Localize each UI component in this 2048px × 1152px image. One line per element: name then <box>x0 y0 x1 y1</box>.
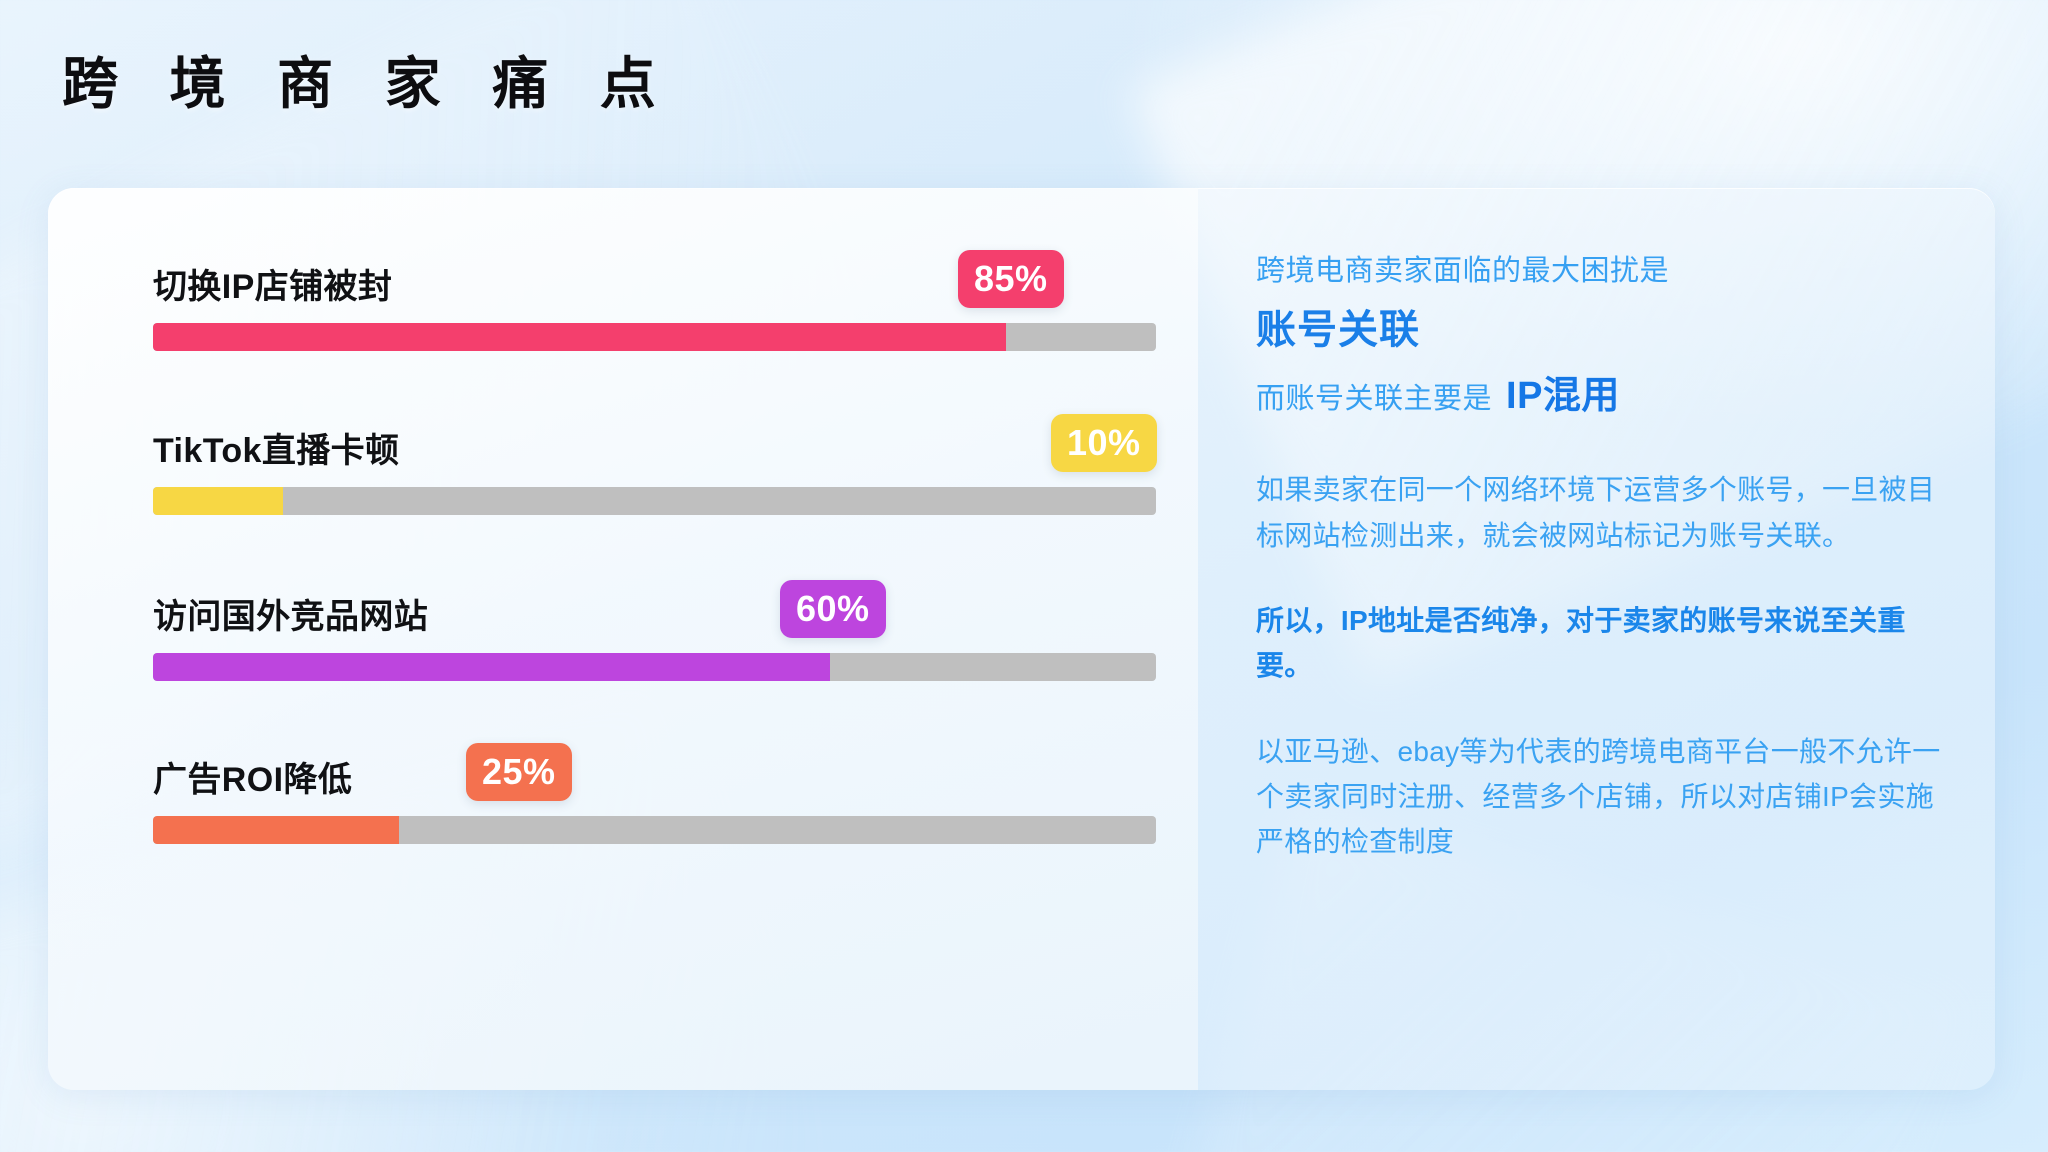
bar-header: 访问国外竞品网站 60% <box>153 566 1156 640</box>
bar-label: TikTok直播卡顿 <box>153 434 399 474</box>
bar-value-badge: 85% <box>958 250 1064 308</box>
page-title: 跨 境 商 家 痛 点 <box>62 52 674 116</box>
panel-paragraph-3: 以亚马逊、ebay等为代表的跨境电商平台一般不允许一个卖家同时注册、经营多个店铺… <box>1256 729 1955 865</box>
pain-point-bar-chart: 切换IP店铺被封 85% TikTok直播卡顿 10% 访问国外竞品网站 60% <box>48 188 1198 1090</box>
bar-track <box>153 653 1156 681</box>
bar-row: 访问国外竞品网站 60% <box>153 566 1156 681</box>
bar-label: 访问国外竞品网站 <box>153 600 428 640</box>
panel-paragraph-2: 所以，IP地址是否纯净，对于卖家的账号来说至关重要。 <box>1256 598 1955 689</box>
panel-lead-line: 跨境电商卖家面临的最大困扰是 <box>1256 250 1955 292</box>
panel-lead-secondary: 而账号关联主要是 IP混用 <box>1256 370 1955 423</box>
panel-paragraph-1: 如果卖家在同一个网络环境下运营多个账号，一旦被目标网站检测出来，就会被网站标记为… <box>1256 467 1955 558</box>
bar-track <box>153 323 1156 351</box>
bar-header: TikTok直播卡顿 10% <box>153 400 1156 474</box>
bar-value-badge: 25% <box>466 743 572 801</box>
bar-row: 广告ROI降低 25% <box>153 729 1156 844</box>
bar-header: 广告ROI降低 25% <box>153 729 1156 803</box>
bar-row: 切换IP店铺被封 85% <box>153 236 1156 351</box>
bar-header: 切换IP店铺被封 85% <box>153 236 1156 310</box>
bar-fill <box>153 816 399 844</box>
content-card: 切换IP店铺被封 85% TikTok直播卡顿 10% 访问国外竞品网站 60% <box>48 188 1995 1090</box>
panel-lead-keyword: 账号关联 <box>1256 306 1955 354</box>
bar-fill <box>153 323 1006 351</box>
bar-fill <box>153 487 283 515</box>
bar-track <box>153 816 1156 844</box>
bar-label: 广告ROI降低 <box>153 763 352 803</box>
bar-fill <box>153 653 830 681</box>
bar-row: TikTok直播卡顿 10% <box>153 400 1156 515</box>
panel-lead-secondary-highlight: IP混用 <box>1506 370 1620 423</box>
bar-track <box>153 487 1156 515</box>
bar-value-badge: 10% <box>1051 414 1157 472</box>
explanation-panel: 跨境电商卖家面临的最大困扰是 账号关联 而账号关联主要是 IP混用 如果卖家在同… <box>1210 188 1995 1090</box>
bar-label: 切换IP店铺被封 <box>153 270 392 310</box>
bar-value-badge: 60% <box>780 580 886 638</box>
panel-lead-secondary-prefix: 而账号关联主要是 <box>1256 379 1492 420</box>
